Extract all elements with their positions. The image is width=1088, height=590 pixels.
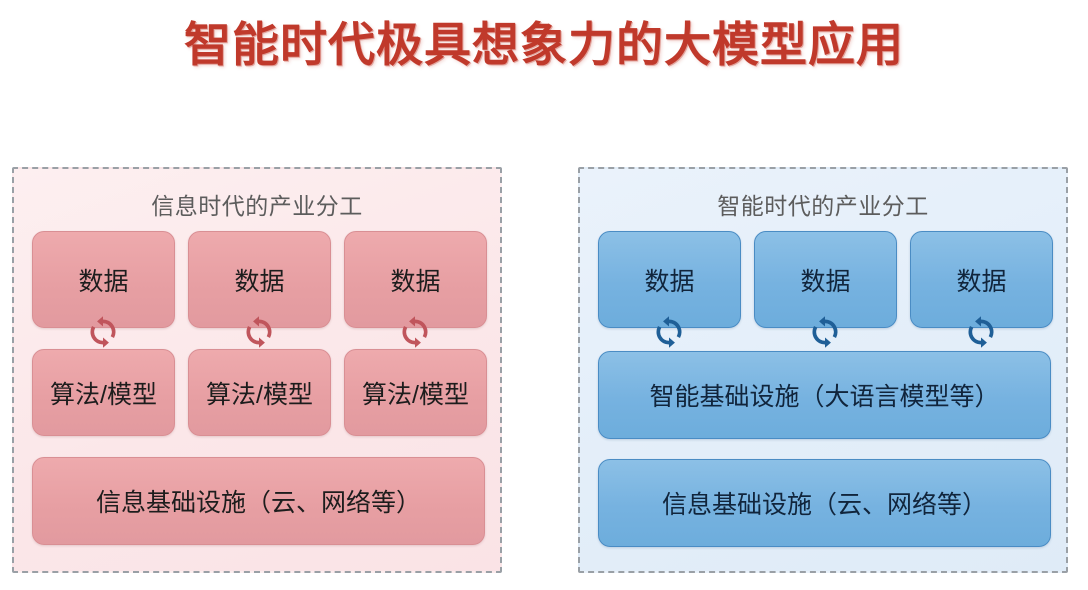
cycle-arrow-icon: [808, 315, 842, 349]
cycle-arrow-icon: [964, 315, 998, 349]
page-title: 智能时代极具想象力的大模型应用: [0, 14, 1088, 76]
node-information-infrastructure[interactable]: 信息基础设施（云、网络等）: [598, 459, 1051, 547]
node-algorithm-1[interactable]: 算法/模型: [32, 349, 175, 436]
node-data-1[interactable]: 数据: [32, 231, 175, 328]
panel-information-age: 信息时代的产业分工 数据 数据 数据: [12, 167, 502, 573]
node-data-2[interactable]: 数据: [188, 231, 331, 328]
cycle-arrow-icon: [398, 315, 432, 349]
panel-header-information-age: 信息时代的产业分工: [14, 187, 500, 221]
node-algorithm-2[interactable]: 算法/模型: [188, 349, 331, 436]
cycle-arrow-icon: [86, 315, 120, 349]
node-intelligent-infrastructure[interactable]: 智能基础设施（大语言模型等）: [598, 351, 1051, 439]
node-data-3[interactable]: 数据: [344, 231, 487, 328]
cycle-arrow-icon: [652, 315, 686, 349]
node-data-1[interactable]: 数据: [598, 231, 741, 328]
node-algorithm-3[interactable]: 算法/模型: [344, 349, 487, 436]
node-data-3[interactable]: 数据: [910, 231, 1053, 328]
node-information-infrastructure[interactable]: 信息基础设施（云、网络等）: [32, 457, 485, 545]
panel-header-intelligent-age: 智能时代的产业分工: [580, 187, 1066, 221]
cycle-arrow-icon: [242, 315, 276, 349]
slide-canvas: 智能时代极具想象力的大模型应用 信息时代的产业分工 数据 数据 数据: [0, 0, 1088, 590]
node-data-2[interactable]: 数据: [754, 231, 897, 328]
panel-intelligent-age: 智能时代的产业分工 数据 数据 数据: [578, 167, 1068, 573]
